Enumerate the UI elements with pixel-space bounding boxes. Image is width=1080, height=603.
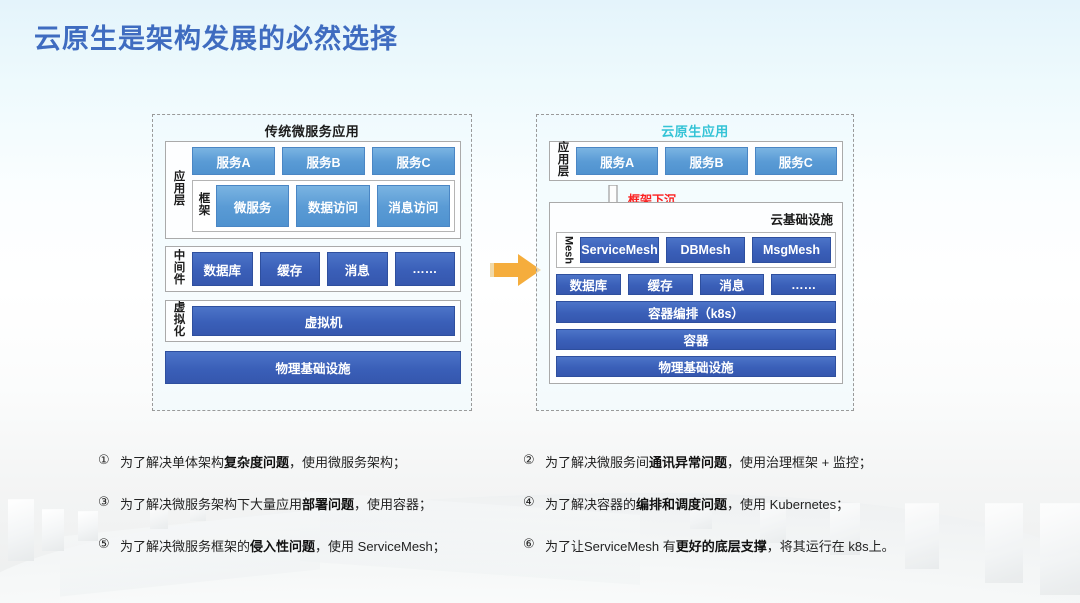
- bullet-text: 为了解决微服务框架的侵入性问题，使用 ServiceMesh；: [120, 536, 446, 555]
- bullet-number: ④: [523, 494, 545, 510]
- middleware-box[interactable]: ……: [771, 274, 836, 295]
- app-layer-group: 应 用 层 服务A 服务B 服务C 框 架 微服务 数据访问 消息访问: [165, 141, 461, 239]
- cloud-infrastructure-group: 云基础设施 Mesh ServiceMesh DBMesh MsgMesh 数据…: [549, 202, 843, 384]
- traditional-panel-title: 传统微服务应用: [153, 121, 471, 140]
- middleware-box[interactable]: ……: [395, 252, 456, 286]
- mesh-box[interactable]: MsgMesh: [752, 237, 831, 263]
- bullet-text: 为了解决微服务架构下大量应用部署问题，使用容器；: [120, 494, 432, 513]
- middleware-box[interactable]: 缓存: [628, 274, 693, 295]
- framework-box[interactable]: 数据访问: [296, 185, 369, 227]
- service-box[interactable]: 服务A: [576, 147, 658, 175]
- service-box[interactable]: 服务B: [665, 147, 747, 175]
- container-orchestration-box[interactable]: 容器编排（k8s）: [556, 301, 836, 322]
- virtual-machine-box[interactable]: 虚拟机: [192, 306, 455, 336]
- service-row: 服务A 服务B 服务C: [192, 147, 455, 175]
- framework-box[interactable]: 微服务: [216, 185, 289, 227]
- middleware-group: 中 间 件 数据库 缓存 消息 ……: [165, 246, 461, 292]
- app-layer-label: 应 用 层: [171, 147, 188, 233]
- mesh-group: Mesh ServiceMesh DBMesh MsgMesh: [556, 232, 836, 268]
- virtualization-group: 虚 拟 化 虚拟机: [165, 300, 461, 342]
- service-box[interactable]: 服务C: [755, 147, 837, 175]
- bullet-column-right: ② 为了解决微服务间通讯异常问题，使用治理框架 + 监控； ④ 为了解决容器的编…: [523, 452, 895, 578]
- list-item: ③ 为了解决微服务架构下大量应用部署问题，使用容器；: [98, 494, 446, 513]
- middleware-label: 中 间 件: [171, 252, 188, 286]
- service-box[interactable]: 服务B: [282, 147, 365, 175]
- physical-infrastructure-box[interactable]: 物理基础设施: [556, 356, 836, 377]
- traditional-microservice-panel: 传统微服务应用 应 用 层 服务A 服务B 服务C 框 架 微服务 数据访问: [152, 114, 472, 411]
- bullet-column-left: ① 为了解决单体架构复杂度问题，使用微服务架构； ③ 为了解决微服务架构下大量应…: [98, 452, 446, 578]
- middleware-box[interactable]: 数据库: [192, 252, 253, 286]
- framework-group: 框 架 微服务 数据访问 消息访问: [192, 180, 455, 232]
- middleware-box[interactable]: 消息: [700, 274, 765, 295]
- middleware-box[interactable]: 消息: [327, 252, 388, 286]
- list-item: ⑤ 为了解决微服务框架的侵入性问题，使用 ServiceMesh；: [98, 536, 446, 555]
- bullet-text: 为了解决单体架构复杂度问题，使用微服务架构；: [120, 452, 406, 471]
- mesh-label: Mesh: [561, 237, 576, 263]
- bullet-text: 为了让ServiceMesh 有更好的底层支撑，将其运行在 k8s上。: [545, 536, 895, 555]
- container-box[interactable]: 容器: [556, 329, 836, 350]
- list-item: ④ 为了解决容器的编排和调度问题，使用 Kubernetes；: [523, 494, 895, 513]
- cloud-app-layer-label: 应 用 层: [555, 147, 572, 175]
- right-arrow-icon: [494, 254, 541, 286]
- middleware-box[interactable]: 缓存: [260, 252, 321, 286]
- list-item: ⑥ 为了让ServiceMesh 有更好的底层支撑，将其运行在 k8s上。: [523, 536, 895, 555]
- mesh-box[interactable]: DBMesh: [666, 237, 745, 263]
- cloud-panel-title: 云原生应用: [537, 121, 853, 140]
- bullet-number: ②: [523, 452, 545, 468]
- physical-infrastructure-box[interactable]: 物理基础设施: [165, 351, 461, 384]
- list-item: ② 为了解决微服务间通讯异常问题，使用治理框架 + 监控；: [523, 452, 895, 471]
- bullet-text: 为了解决微服务间通讯异常问题，使用治理框架 + 监控；: [545, 452, 872, 471]
- mesh-box[interactable]: ServiceMesh: [580, 237, 659, 263]
- page-title: 云原生是架构发展的必然选择: [34, 17, 398, 56]
- framework-label: 框 架: [197, 185, 212, 227]
- bullet-number: ③: [98, 494, 120, 510]
- service-box[interactable]: 服务C: [372, 147, 455, 175]
- cloud-native-panel: 云原生应用 应 用 层 服务A 服务B 服务C 框架下沉 云基础设施 Mesh …: [536, 114, 854, 411]
- middleware-box[interactable]: 数据库: [556, 274, 621, 295]
- bullet-number: ①: [98, 452, 120, 468]
- cloud-middleware-row: 数据库 缓存 消息 ……: [556, 274, 836, 295]
- list-item: ① 为了解决单体架构复杂度问题，使用微服务架构；: [98, 452, 446, 471]
- cloud-app-layer-group: 应 用 层 服务A 服务B 服务C: [549, 141, 843, 181]
- virtualization-label: 虚 拟 化: [171, 306, 188, 336]
- cloud-infrastructure-title: 云基础设施: [770, 209, 833, 228]
- bullet-number: ⑥: [523, 536, 545, 552]
- framework-box[interactable]: 消息访问: [377, 185, 450, 227]
- service-box[interactable]: 服务A: [192, 147, 275, 175]
- bullet-number: ⑤: [98, 536, 120, 552]
- bullet-text: 为了解决容器的编排和调度问题，使用 Kubernetes；: [545, 494, 849, 513]
